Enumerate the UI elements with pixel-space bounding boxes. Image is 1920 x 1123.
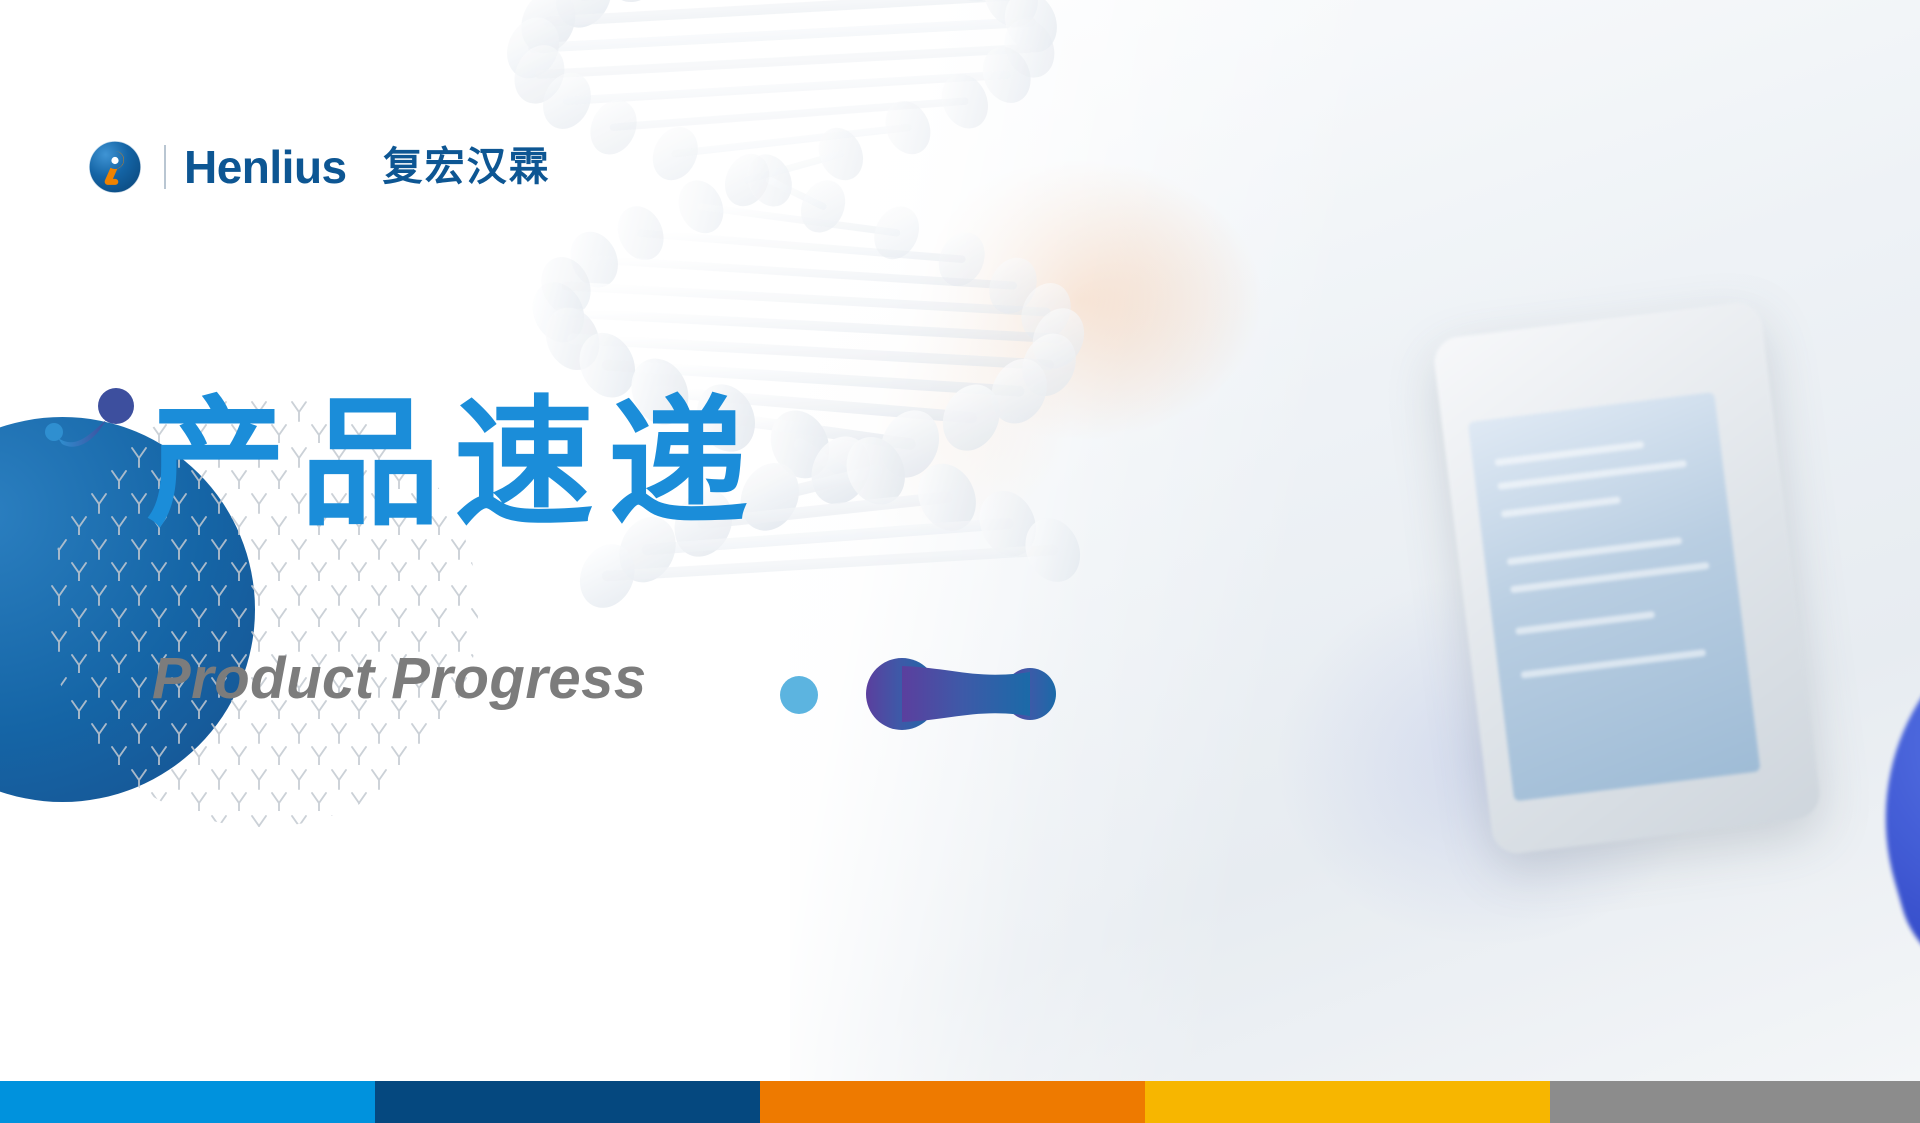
logo-name-cn: 复宏汉霖 <box>383 147 551 187</box>
bar-segment-gray <box>1550 1081 1920 1123</box>
bar-segment-orange <box>760 1081 1145 1123</box>
gloved-hand-lower-back <box>1888 465 1920 804</box>
tablet-device <box>1432 300 1823 856</box>
logo-name-en: Henlius <box>184 144 347 190</box>
gloved-hand-lower <box>1833 548 1920 1051</box>
page-title: 产品速递 <box>146 388 762 542</box>
cover-slide: Henlius 复宏汉霖 产品速递 Product Progress <box>0 0 1920 1123</box>
henlius-circle-mark-icon <box>88 140 142 194</box>
bar-segment-yellow <box>1145 1081 1550 1123</box>
tablet-screen <box>1468 392 1761 801</box>
accent-dot <box>780 676 818 714</box>
brand-color-bar <box>0 1081 1920 1123</box>
page-subtitle: Product Progress <box>152 645 647 712</box>
bar-segment-light-blue <box>0 1081 375 1123</box>
molecule-node-link-small-icon <box>28 386 158 466</box>
bar-segment-dark-blue <box>375 1081 760 1123</box>
logo-divider <box>164 145 166 189</box>
brand-logo[interactable]: Henlius 复宏汉霖 <box>88 140 551 194</box>
molecule-dumbbell-icon <box>858 646 1058 742</box>
